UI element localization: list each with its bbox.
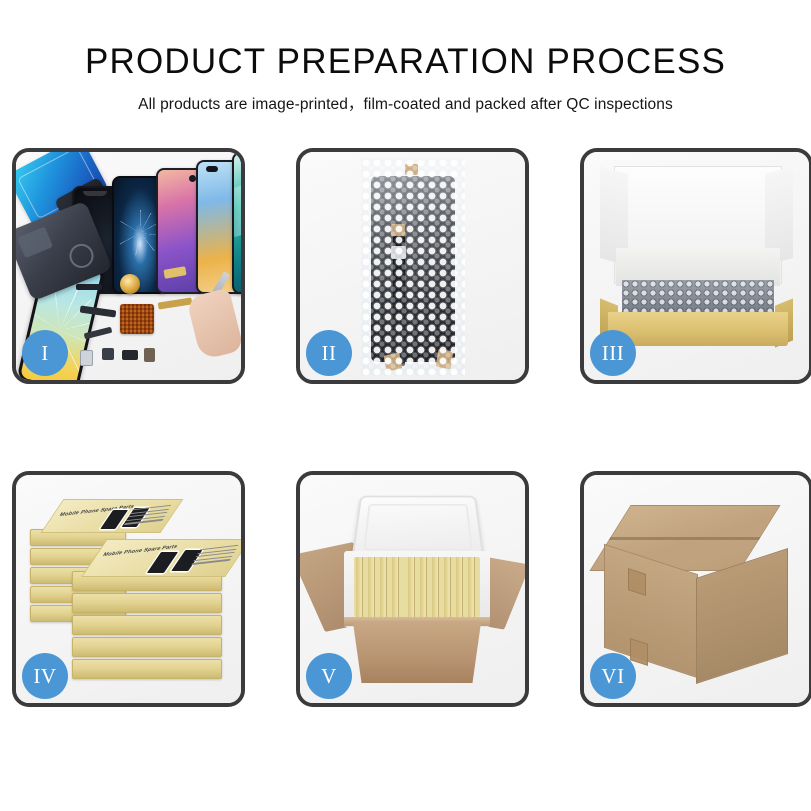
copper-grid-part-icon: [120, 304, 154, 334]
stacked-box: [72, 593, 222, 613]
tape-strip-icon-2: [630, 638, 648, 666]
packed-boxes-icon: [354, 557, 480, 617]
step-panel-ii[interactable]: II: [296, 148, 529, 384]
step-panel-v[interactable]: V: [296, 471, 529, 707]
process-steps-grid: I II: [12, 148, 800, 707]
product-preparation-infographic: PRODUCT PREPARATION PROCESS All products…: [0, 0, 811, 811]
step-panel-iv[interactable]: Mobile Phone Spare Parts Mobile Phone Sp…: [12, 471, 245, 707]
step-badge-iv: IV: [22, 653, 68, 699]
flex-cable-icon-2: [158, 297, 193, 309]
box-spec-lines: [190, 545, 238, 567]
step-badge-vi: VI: [590, 653, 636, 699]
bubble-texture-front: [361, 158, 465, 376]
step-badge-ii: II: [306, 330, 352, 376]
stacked-box: [72, 637, 222, 657]
step-badge-v: V: [306, 653, 352, 699]
printed-box-lid: Mobile Phone Spare Parts: [81, 539, 241, 577]
connector-part-icon: [76, 284, 102, 290]
golden-box-front-icon: [608, 312, 788, 346]
step-panel-iii[interactable]: III: [580, 148, 811, 384]
page-subtitle: All products are image-printed，film-coat…: [0, 92, 811, 114]
stacked-box: [72, 659, 222, 679]
teal-display-icon: [232, 152, 241, 294]
step-badge-iii: III: [590, 330, 636, 376]
page-title: PRODUCT PREPARATION PROCESS: [0, 44, 811, 81]
carton-front-icon: [344, 621, 490, 683]
coil-part-icon: [120, 274, 140, 294]
bubble-wrap-package-icon: [361, 158, 465, 376]
small-part-icon-4: [80, 350, 93, 366]
step-badge-i: I: [22, 330, 68, 376]
header: PRODUCT PREPARATION PROCESS All products…: [0, 0, 811, 114]
hand-icon: [186, 288, 241, 361]
stacked-box: [72, 615, 222, 635]
step-panel-vi[interactable]: VI: [580, 471, 811, 707]
printed-box-lid: Mobile Phone Spare Parts: [41, 499, 184, 533]
step-panel-i[interactable]: I: [12, 148, 245, 384]
small-part-icon-3: [144, 348, 155, 362]
small-part-icon-2: [122, 350, 138, 360]
small-part-icon-1: [102, 348, 114, 360]
